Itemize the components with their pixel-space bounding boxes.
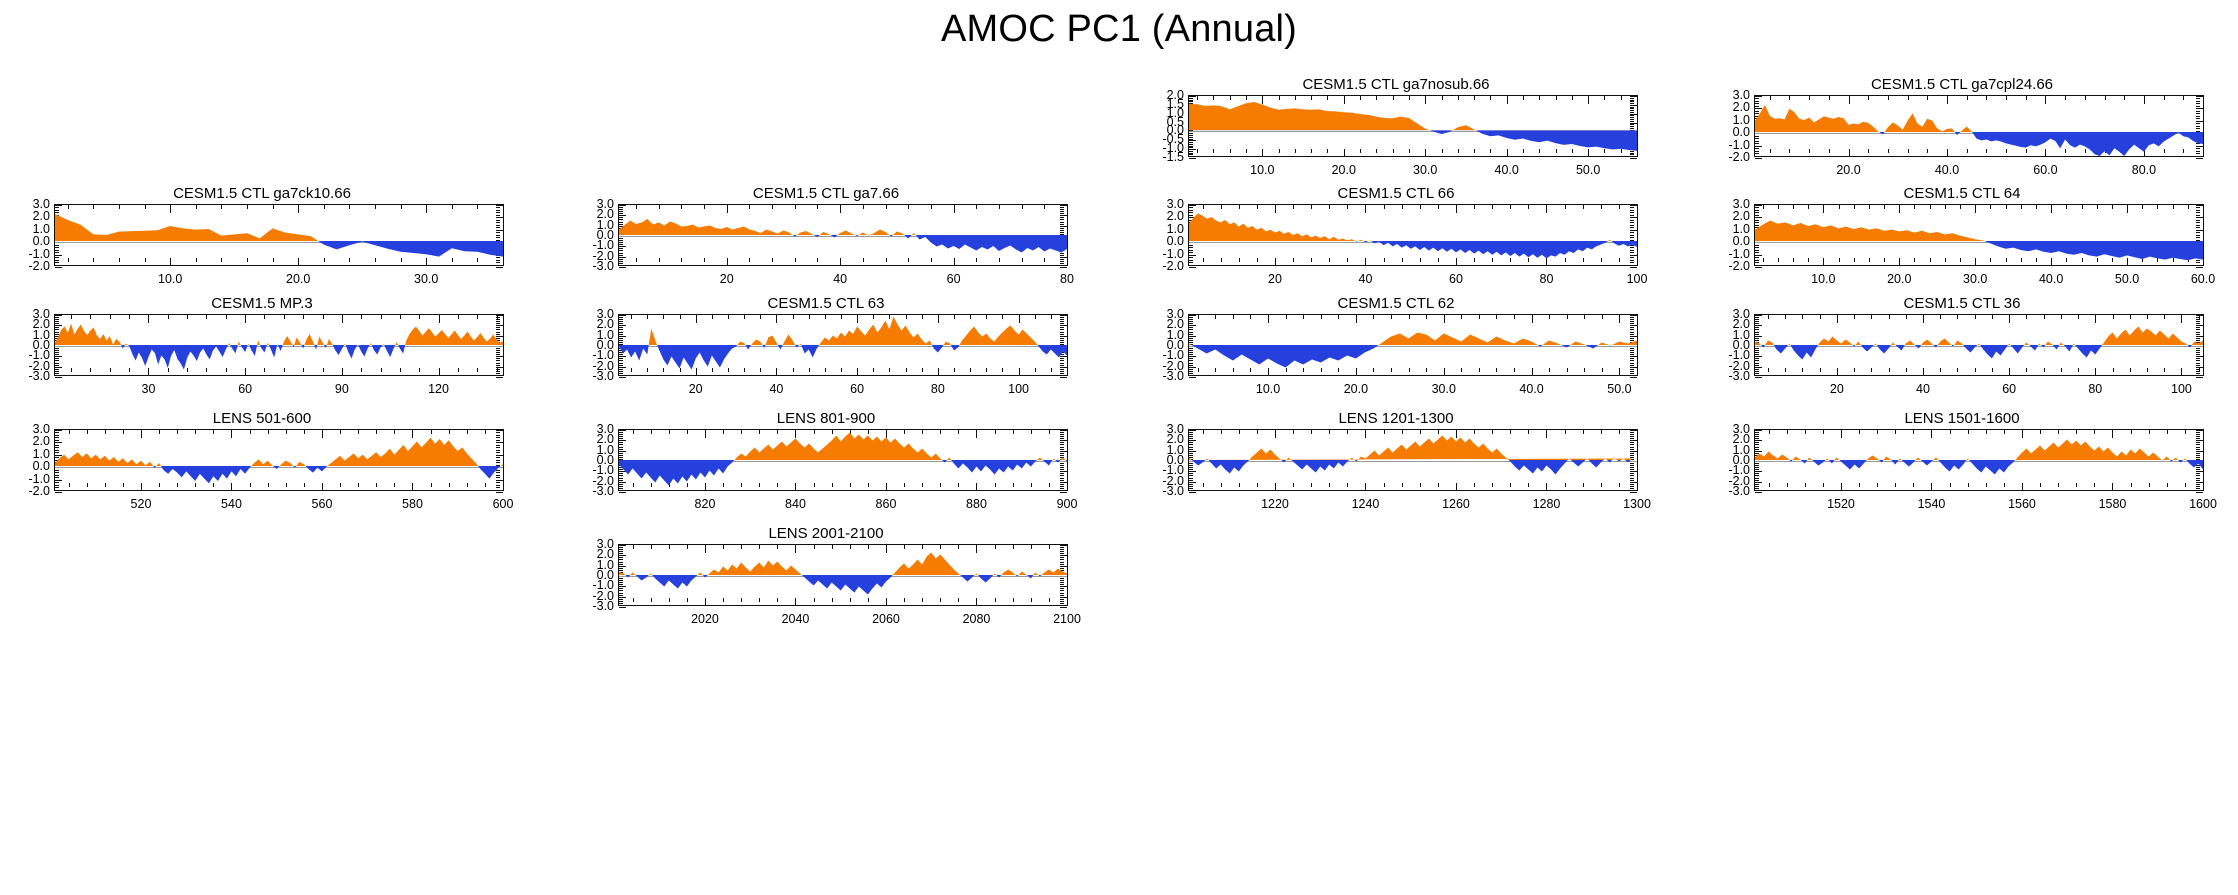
area-fill <box>1189 213 1637 258</box>
y-tick <box>1189 375 1193 376</box>
y-axis-labels: 3.02.01.00.0-1.0-2.0 <box>12 429 50 491</box>
panel-plot-area: 3.02.01.00.0-1.0-2.0-3.0 <box>1146 314 1646 376</box>
y-tick-label: -3.0 <box>1162 370 1184 383</box>
x-tick-label: 80 <box>1540 273 1554 286</box>
x-tick <box>2203 96 2204 100</box>
x-tick-label: 50.0 <box>1576 164 1600 177</box>
x-tick-label: 80 <box>2088 383 2102 396</box>
x-axis-labels: 20.040.060.080.0 <box>1754 164 2212 180</box>
y-tick-label: -3.0 <box>592 370 614 383</box>
x-tick-label: 540 <box>221 498 242 511</box>
x-axis-labels: 12201240126012801300 <box>1188 498 1646 514</box>
x-tick-label: 60.0 <box>2191 273 2215 286</box>
x-tick-label: 30.0 <box>1432 383 1456 396</box>
figure-title: AMOC PC1 (Annual) <box>0 0 2238 58</box>
chart-panel: CESM1.5 CTL 633.02.01.00.0-1.0-2.0-3.020… <box>576 295 1076 402</box>
x-tick-label: 1260 <box>1442 498 1470 511</box>
chart-panel: CESM1.5 CTL ga7.663.02.01.00.0-1.0-2.0-3… <box>576 185 1076 292</box>
series-area <box>1189 205 1637 265</box>
y-tick <box>1189 492 1196 493</box>
x-tick-label: 100 <box>1008 383 1029 396</box>
x-tick <box>1637 430 1638 438</box>
x-tick-label: 50.0 <box>1607 383 1631 396</box>
y-tick-label: -2.0 <box>1728 260 1750 273</box>
panel-title: CESM1.5 CTL 64 <box>1712 185 2212 202</box>
axes-frame <box>618 544 1068 606</box>
panel-title: CESM1.5 CTL 62 <box>1146 295 1646 312</box>
y-tick-label: -3.0 <box>1162 485 1184 498</box>
x-tick <box>1067 430 1068 438</box>
x-tick-label: 10.0 <box>1250 164 1274 177</box>
y-tick <box>2196 375 2200 376</box>
y-tick <box>1630 375 1634 376</box>
x-tick-label: 580 <box>402 498 423 511</box>
chart-panel: LENS 501-6003.02.01.00.0-1.0-2.052054056… <box>12 410 512 517</box>
y-tick <box>1060 605 1064 606</box>
chart-panel: LENS 801-9003.02.01.00.0-1.0-2.0-3.08208… <box>576 410 1076 517</box>
y-axis-labels: 3.02.01.00.0-1.0-2.0 <box>12 204 50 266</box>
chart-panel: CESM1.5 CTL 643.02.01.00.0-1.0-2.010.020… <box>1712 185 2212 292</box>
x-tick <box>1067 258 1068 266</box>
x-tick <box>1637 368 1638 372</box>
y-axis-labels: 3.02.01.00.0-1.0-2.0-3.0 <box>576 314 614 376</box>
x-tick-label: 50.0 <box>2115 273 2139 286</box>
x-tick-label: 560 <box>312 498 333 511</box>
axes-frame <box>54 204 504 266</box>
area-fill <box>55 438 503 484</box>
series-area <box>55 430 503 490</box>
x-tick-label: 40 <box>1916 383 1930 396</box>
x-tick-label: 2020 <box>691 613 719 626</box>
x-axis-labels: 306090120 <box>54 383 512 399</box>
x-tick-label: 90 <box>335 383 349 396</box>
x-tick <box>2203 149 2204 153</box>
panel-title: CESM1.5 CTL ga7ck10.66 <box>12 185 512 202</box>
y-tick-label: -2.0 <box>1728 151 1750 164</box>
chart-panel: LENS 1501-16003.02.01.00.0-1.0-2.0-3.015… <box>1712 410 2212 517</box>
x-tick-label: 2040 <box>782 613 810 626</box>
x-tick-label: 2080 <box>963 613 991 626</box>
x-tick <box>1637 149 1638 153</box>
series-area <box>1755 430 2203 490</box>
y-axis-labels: 3.02.01.00.0-1.0-2.0-3.0 <box>576 544 614 606</box>
x-tick-label: 60 <box>850 383 864 396</box>
x-tick-label: 30.0 <box>414 273 438 286</box>
y-tick <box>1060 377 1067 378</box>
x-tick <box>2203 483 2204 491</box>
x-axis-labels: 20406080100 <box>618 383 1076 399</box>
y-axis-labels: 2.01.51.00.50.0-0.5-1.0-1.5 <box>1146 95 1184 157</box>
axes-frame <box>1754 429 2204 491</box>
axes-frame <box>1754 314 2204 376</box>
y-tick <box>2196 377 2203 378</box>
x-axis-labels: 10.020.030.040.050.0 <box>1188 383 1646 399</box>
panel-title: CESM1.5 CTL ga7cpl24.66 <box>1712 76 2212 93</box>
y-tick <box>1630 158 1637 159</box>
series-area <box>55 205 503 265</box>
panel-title: LENS 1201-1300 <box>1146 410 1646 427</box>
axes-frame <box>54 314 504 376</box>
panel-title: CESM1.5 CTL 36 <box>1712 295 2212 312</box>
panel-title: CESM1.5 CTL ga7nosub.66 <box>1146 76 1646 93</box>
x-tick-label: 10.0 <box>1256 383 1280 396</box>
x-tick-label: 30 <box>142 383 156 396</box>
x-axis-labels: 20406080 <box>618 273 1076 289</box>
series-area <box>55 315 503 375</box>
area-fill <box>1755 105 2203 156</box>
x-tick-label: 520 <box>131 498 152 511</box>
series-area <box>1755 315 2203 375</box>
x-tick-label: 40 <box>833 273 847 286</box>
y-tick <box>619 492 626 493</box>
y-axis-labels: 3.02.01.00.0-1.0-2.0-3.0 <box>1712 429 1750 491</box>
x-axis-labels: 15201540156015801600 <box>1754 498 2212 514</box>
x-tick-label: 100 <box>1627 273 1648 286</box>
y-axis-labels: 3.02.01.00.0-1.0-2.0 <box>1146 204 1184 266</box>
x-tick-label: 20.0 <box>1887 273 1911 286</box>
panel-title: LENS 501-600 <box>12 410 512 427</box>
panel-plot-area: 3.02.01.00.0-1.0-2.0 <box>12 429 512 491</box>
y-tick <box>55 492 62 493</box>
y-tick <box>496 492 503 493</box>
y-tick <box>1755 377 1762 378</box>
y-tick <box>2196 492 2203 493</box>
x-tick <box>2203 430 2204 438</box>
y-tick-label: -3.0 <box>28 370 50 383</box>
y-tick <box>1060 607 1067 608</box>
x-axis-labels: 20202040206020802100 <box>618 613 1076 629</box>
y-tick <box>2196 158 2203 159</box>
panel-plot-area: 3.02.01.00.0-1.0-2.0 <box>1712 95 2212 157</box>
y-tick <box>1755 490 1759 491</box>
panel-plot-area: 2.01.51.00.50.0-0.5-1.0-1.5 <box>1146 95 1646 157</box>
x-tick <box>1067 483 1068 491</box>
chart-panel: CESM1.5 CTL ga7ck10.663.02.01.00.0-1.0-2… <box>12 185 512 292</box>
x-tick-label: 100 <box>2171 383 2192 396</box>
y-axis-labels: 3.02.01.00.0-1.0-2.0-3.0 <box>576 429 614 491</box>
x-tick-label: 1580 <box>2099 498 2127 511</box>
x-tick-label: 1600 <box>2189 498 2217 511</box>
y-tick <box>619 377 626 378</box>
chart-panel: CESM1.5 CTL 363.02.01.00.0-1.0-2.0-3.020… <box>1712 295 2212 402</box>
y-tick-label: -3.0 <box>1728 370 1750 383</box>
y-tick-label: -3.0 <box>592 485 614 498</box>
panel-plot-area: 3.02.01.00.0-1.0-2.0-3.0 <box>576 429 1076 491</box>
x-tick-label: 900 <box>1057 498 1078 511</box>
x-tick-label: 10.0 <box>158 273 182 286</box>
series-area <box>619 430 1067 490</box>
y-axis-labels: 3.02.01.00.0-1.0-2.0 <box>1712 204 1750 266</box>
axes-frame <box>1188 95 1638 157</box>
x-tick-label: 40 <box>769 383 783 396</box>
y-tick <box>619 375 623 376</box>
y-axis-labels: 3.02.01.00.0-1.0-2.0-3.0 <box>1712 314 1750 376</box>
x-tick <box>1637 258 1638 266</box>
y-tick <box>619 607 626 608</box>
x-tick-label: 60 <box>238 383 252 396</box>
panel-title: LENS 1501-1600 <box>1712 410 2212 427</box>
x-tick-label: 1520 <box>1827 498 1855 511</box>
x-tick-label: 40.0 <box>1519 383 1543 396</box>
y-tick <box>619 605 623 606</box>
panel-plot-area: 3.02.01.00.0-1.0-2.0-3.0 <box>1712 429 2212 491</box>
panel-title: CESM1.5 CTL 63 <box>576 295 1076 312</box>
series-area <box>1189 430 1637 490</box>
x-tick-label: 20 <box>1830 383 1844 396</box>
x-axis-labels: 10.020.030.040.050.060.0 <box>1754 273 2212 289</box>
x-tick-label: 880 <box>966 498 987 511</box>
x-axis-labels: 820840860880900 <box>618 498 1076 514</box>
panel-plot-area: 3.02.01.00.0-1.0-2.0-3.0 <box>576 544 1076 606</box>
x-tick-label: 30.0 <box>1963 273 1987 286</box>
panel-title: CESM1.5 CTL 66 <box>1146 185 1646 202</box>
y-tick <box>1060 490 1064 491</box>
x-tick <box>503 205 504 209</box>
y-tick <box>1060 267 1067 268</box>
x-tick-label: 80 <box>931 383 945 396</box>
x-tick-label: 20.0 <box>1344 383 1368 396</box>
x-axis-labels: 20406080100 <box>1188 273 1646 289</box>
y-tick <box>496 377 503 378</box>
y-tick <box>496 375 500 376</box>
x-tick <box>1637 483 1638 491</box>
x-tick-label: 1280 <box>1533 498 1561 511</box>
y-axis-labels: 3.02.01.00.0-1.0-2.0-3.0 <box>576 204 614 266</box>
x-tick <box>1067 315 1068 319</box>
y-tick <box>1189 377 1196 378</box>
y-axis-labels: 3.02.01.00.0-1.0-2.0 <box>1712 95 1750 157</box>
x-tick-label: 20.0 <box>1836 164 1860 177</box>
area-fill <box>619 553 1067 595</box>
x-tick-label: 60 <box>2002 383 2016 396</box>
x-tick-label: 2100 <box>1053 613 1081 626</box>
y-tick-label: -3.0 <box>1728 485 1750 498</box>
chart-panel: CESM1.5 CTL 623.02.01.00.0-1.0-2.0-3.010… <box>1146 295 1646 402</box>
panel-title: LENS 2001-2100 <box>576 525 1076 542</box>
y-tick <box>496 267 503 268</box>
y-tick <box>1189 490 1193 491</box>
y-tick <box>55 377 62 378</box>
x-tick <box>503 483 504 491</box>
y-tick <box>1189 158 1196 159</box>
y-tick-label: -3.0 <box>592 600 614 613</box>
y-tick <box>1630 490 1634 491</box>
x-axis-labels: 520540560580600 <box>54 498 512 514</box>
y-tick <box>1060 492 1067 493</box>
y-tick <box>1189 267 1196 268</box>
x-axis-labels: 10.020.030.040.050.0 <box>1188 164 1646 180</box>
y-axis-labels: 3.02.01.00.0-1.0-2.0-3.0 <box>1146 429 1184 491</box>
panel-plot-area: 3.02.01.00.0-1.0-2.0-3.0 <box>1146 429 1646 491</box>
x-tick-label: 20 <box>720 273 734 286</box>
series-area <box>1755 205 2203 265</box>
y-tick <box>1630 267 1637 268</box>
y-tick <box>2196 490 2200 491</box>
panel-title: LENS 801-900 <box>576 410 1076 427</box>
axes-frame <box>618 204 1068 266</box>
y-axis-labels: 3.02.01.00.0-1.0-2.0-3.0 <box>1146 314 1184 376</box>
chart-panel: CESM1.5 CTL ga7cpl24.663.02.01.00.0-1.0-… <box>1712 76 2212 183</box>
area-fill <box>619 553 1067 595</box>
y-axis-labels: 3.02.01.00.0-1.0-2.0-3.0 <box>12 314 50 376</box>
series-area <box>619 545 1067 605</box>
x-tick-label: 600 <box>493 498 514 511</box>
x-tick <box>2203 205 2204 213</box>
panel-title: CESM1.5 MP.3 <box>12 295 512 312</box>
axes-frame <box>1188 429 1638 491</box>
chart-panel: CESM1.5 MP.33.02.01.00.0-1.0-2.0-3.03060… <box>12 295 512 402</box>
y-tick <box>1755 267 1762 268</box>
series-area <box>1189 96 1637 156</box>
axes-frame <box>54 429 504 491</box>
x-tick-label: 840 <box>785 498 806 511</box>
y-tick <box>55 267 62 268</box>
y-tick <box>1060 265 1064 266</box>
x-tick-label: 20 <box>1268 273 1282 286</box>
x-tick-label: 1300 <box>1623 498 1651 511</box>
panel-plot-area: 3.02.01.00.0-1.0-2.0-3.0 <box>576 314 1076 376</box>
x-tick-label: 40.0 <box>1495 164 1519 177</box>
x-tick-label: 820 <box>695 498 716 511</box>
y-tick <box>1755 158 1762 159</box>
axes-frame <box>1188 204 1638 266</box>
y-tick <box>619 490 623 491</box>
x-tick <box>1637 96 1638 100</box>
axes-frame <box>618 314 1068 376</box>
axes-frame <box>618 429 1068 491</box>
x-tick-label: 40 <box>1359 273 1373 286</box>
series-area <box>619 205 1067 265</box>
area-fill <box>55 323 503 369</box>
series-area <box>619 315 1067 375</box>
panel-plot-area: 3.02.01.00.0-1.0-2.0 <box>1146 204 1646 266</box>
x-axis-labels: 10.020.030.0 <box>54 273 512 289</box>
y-tick-label: -2.0 <box>28 485 50 498</box>
series-area <box>1755 96 2203 156</box>
x-tick-label: 80.0 <box>2132 164 2156 177</box>
x-tick-label: 1240 <box>1352 498 1380 511</box>
y-tick <box>619 265 623 266</box>
x-tick-label: 60.0 <box>2033 164 2057 177</box>
area-fill <box>1755 326 2203 359</box>
series-area <box>1189 315 1637 375</box>
y-tick-label: -2.0 <box>28 260 50 273</box>
area-fill <box>1189 435 1632 474</box>
axes-frame <box>1188 314 1638 376</box>
panel-plot-area: 3.02.01.00.0-1.0-2.0-3.0 <box>1712 314 2212 376</box>
y-tick <box>55 375 59 376</box>
y-tick-label: -2.0 <box>1162 260 1184 273</box>
panel-plot-area: 3.02.01.00.0-1.0-2.0-3.0 <box>12 314 512 376</box>
x-tick <box>503 258 504 262</box>
x-tick-label: 20.0 <box>286 273 310 286</box>
panel-plot-area: 3.02.01.00.0-1.0-2.0-3.0 <box>576 204 1076 266</box>
chart-panel: CESM1.5 CTL ga7nosub.662.01.51.00.50.0-0… <box>1146 76 1646 183</box>
axes-frame <box>1754 204 2204 266</box>
y-tick <box>2196 267 2203 268</box>
axes-frame <box>1754 95 2204 157</box>
x-tick-label: 30.0 <box>1413 164 1437 177</box>
y-tick <box>1755 375 1759 376</box>
y-tick <box>1060 375 1064 376</box>
x-tick-label: 40.0 <box>1935 164 1959 177</box>
y-tick <box>619 267 626 268</box>
x-tick-label: 20.0 <box>1332 164 1356 177</box>
x-axis-labels: 20406080100 <box>1754 383 2212 399</box>
x-tick <box>1637 315 1638 319</box>
x-tick-label: 40.0 <box>2039 273 2063 286</box>
x-tick-label: 60 <box>947 273 961 286</box>
x-tick-label: 1540 <box>1918 498 1946 511</box>
x-tick-label: 20 <box>689 383 703 396</box>
x-tick-label: 60 <box>1449 273 1463 286</box>
x-tick <box>503 430 504 438</box>
chart-panel: CESM1.5 CTL 663.02.01.00.0-1.0-2.0204060… <box>1146 185 1646 292</box>
area-fill <box>619 219 1067 252</box>
y-tick <box>1755 492 1762 493</box>
panel-plot-area: 3.02.01.00.0-1.0-2.0 <box>1712 204 2212 266</box>
x-tick-label: 860 <box>876 498 897 511</box>
y-tick-label: -3.0 <box>592 260 614 273</box>
x-tick-label: 10.0 <box>1811 273 1835 286</box>
y-tick <box>1630 492 1637 493</box>
panel-plot-area: 3.02.01.00.0-1.0-2.0 <box>12 204 512 266</box>
x-tick-label: 80 <box>1060 273 1074 286</box>
chart-panel: LENS 1201-13003.02.01.00.0-1.0-2.0-3.012… <box>1146 410 1646 517</box>
x-tick <box>1067 368 1068 372</box>
chart-panel: LENS 2001-21003.02.01.00.0-1.0-2.0-3.020… <box>576 525 1076 632</box>
y-tick <box>1630 377 1637 378</box>
x-tick-label: 2060 <box>872 613 900 626</box>
x-tick <box>1067 545 1068 553</box>
x-tick-label: 1560 <box>2008 498 2036 511</box>
y-tick-label: -1.5 <box>1162 151 1184 164</box>
x-tick <box>2203 258 2204 266</box>
x-tick-label: 120 <box>428 383 449 396</box>
x-tick <box>1067 598 1068 606</box>
panel-title: CESM1.5 CTL ga7.66 <box>576 185 1076 202</box>
x-tick <box>1637 205 1638 213</box>
area-fill <box>619 317 1067 370</box>
x-tick <box>1067 205 1068 213</box>
x-tick-label: 1220 <box>1261 498 1289 511</box>
